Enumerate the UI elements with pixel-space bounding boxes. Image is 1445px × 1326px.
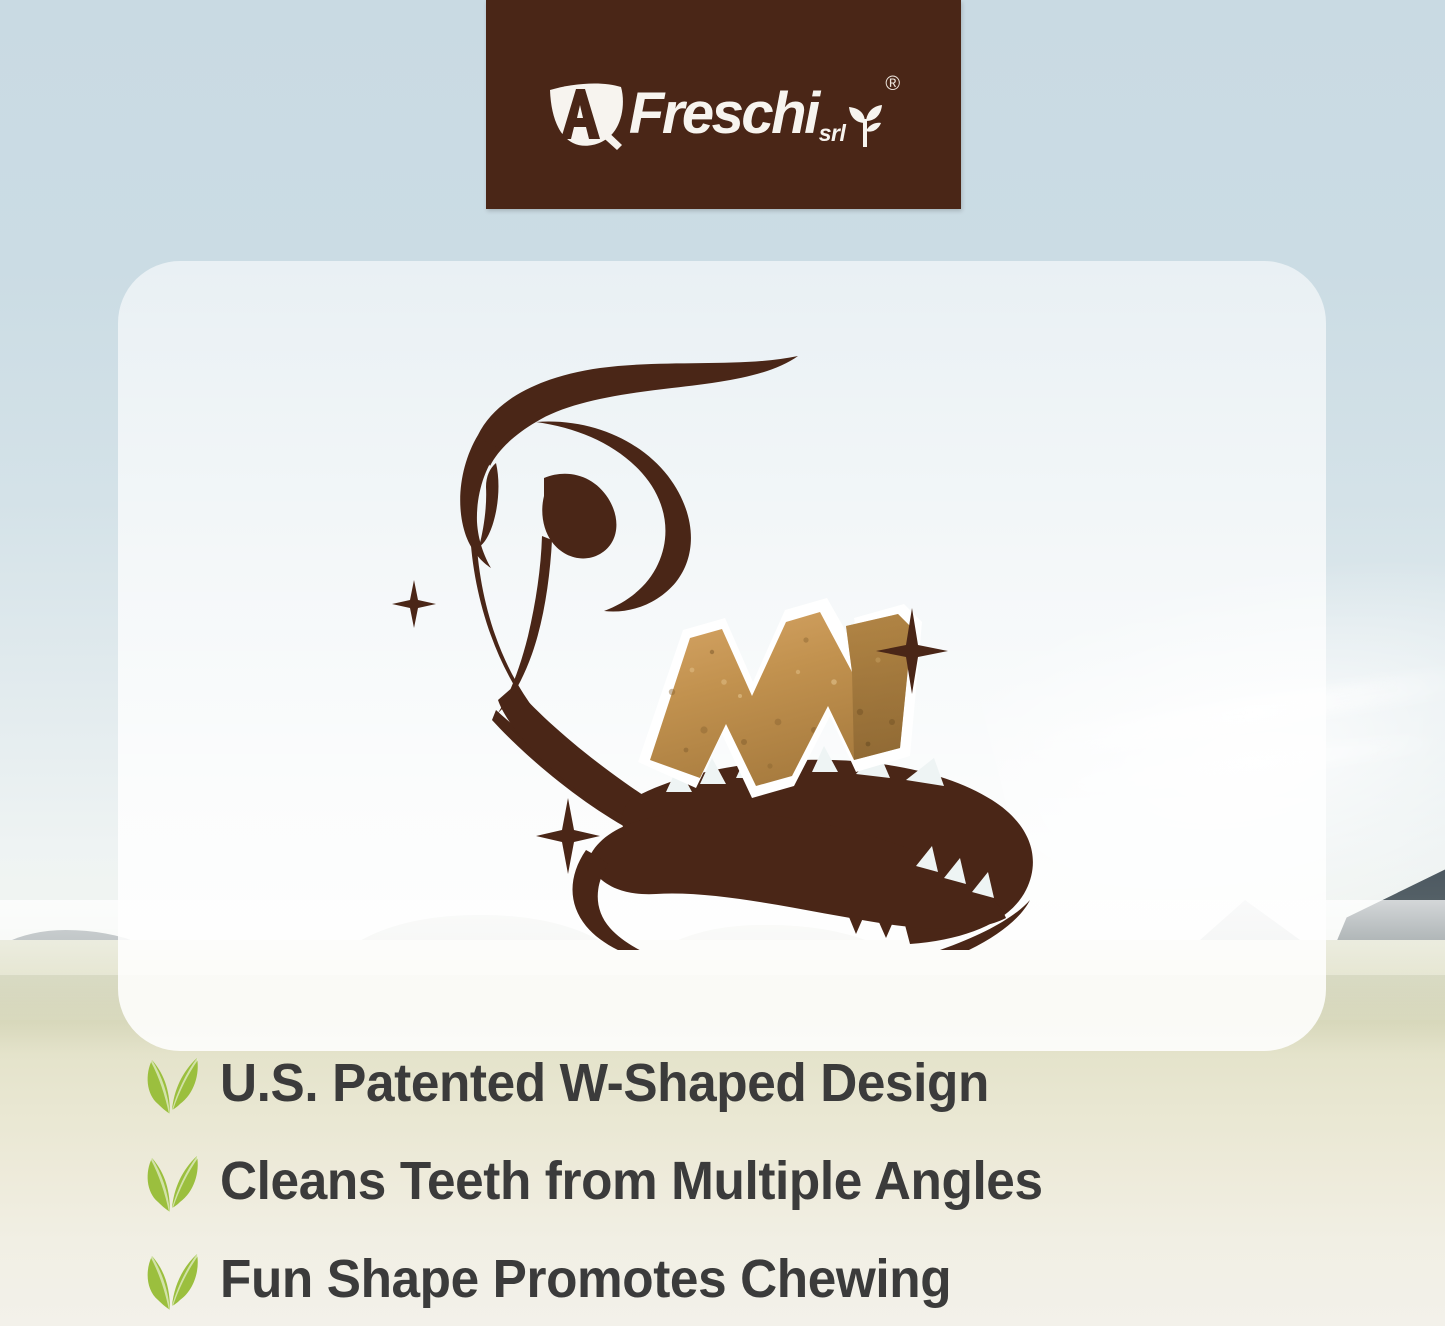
brand-logo-lockup: Freschi srl ® [547,77,900,151]
leaf-bullet-icon [140,1246,202,1312]
feature-label: U.S. Patented W-Shaped Design [220,1056,989,1110]
feature-label: Fun Shape Promotes Chewing [220,1252,951,1306]
leaf-bullet-icon [140,1050,202,1116]
feature-item-cleans-teeth: Cleans Teeth from Multiple Angles [140,1132,1370,1230]
dog-chewing-treat-illustration: W [300,330,1060,950]
registered-trademark-mark: ® [885,73,900,96]
leaf-bullet-icon [140,1148,202,1214]
leaf-with-a-icon [547,77,633,151]
feature-list: U.S. Patented W-Shaped Design Cleans Tee… [140,1034,1370,1326]
brand-wordmark: Freschi [629,85,818,143]
feature-item-patented-design: U.S. Patented W-Shaped Design [140,1034,1370,1132]
brand-logo-banner: Freschi srl ® [486,0,961,209]
product-feature-poster: W Freschi srl [0,0,1445,1326]
brand-suffix: srl [819,120,846,147]
feature-label: Cleans Teeth from Multiple Angles [220,1154,1043,1208]
sprout-icon [847,101,883,149]
w-shaped-chew-treat: W [300,330,922,798]
feature-item-fun-shape: Fun Shape Promotes Chewing [140,1230,1370,1326]
sparkle-small-left [392,580,436,628]
